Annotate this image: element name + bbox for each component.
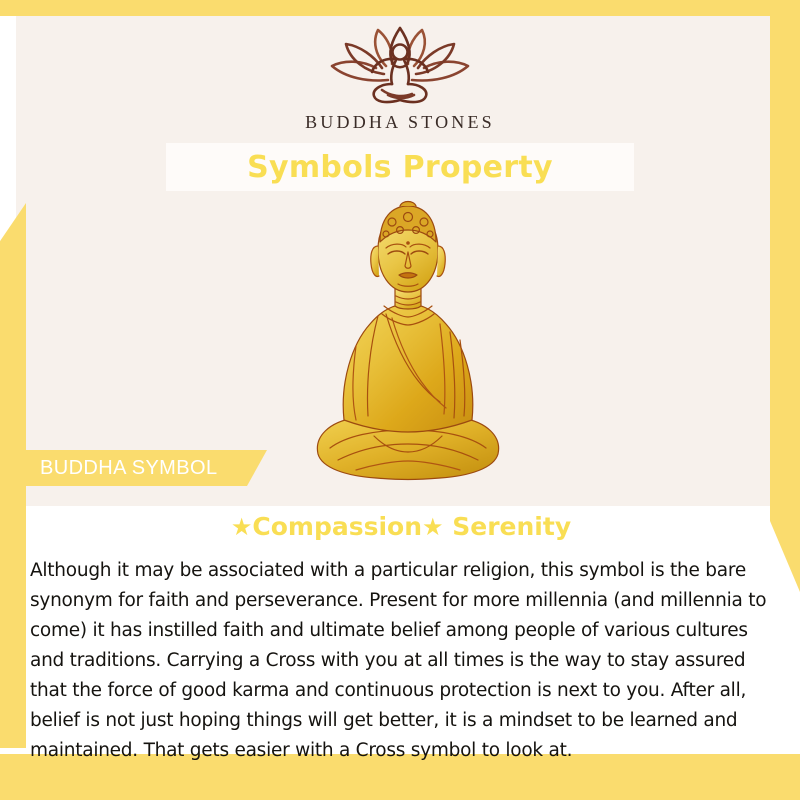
symbol-category-tag: BUDDHA SYMBOL	[17, 450, 267, 486]
symbol-category-label: BUDDHA SYMBOL	[40, 457, 217, 480]
star-icon: ★	[231, 513, 253, 541]
lotus-meditation-figure-icon	[310, 22, 490, 108]
attribute-serenity: Serenity	[452, 512, 571, 541]
description-paragraph: Although it may be associated with a par…	[30, 556, 772, 766]
title-banner: Symbols Property	[166, 143, 634, 191]
attributes-heading: ★Compassion★ Serenity	[26, 512, 776, 541]
buddha-statue-image	[300, 196, 516, 496]
brand-logo: BUDDHA STONES	[0, 22, 800, 133]
buddha-statue-icon	[300, 196, 516, 496]
attribute-compassion: Compassion	[252, 512, 422, 541]
poster-root: BUDDHA STONES Symbols Property	[0, 0, 800, 800]
frame-top-bar	[0, 0, 800, 16]
brand-name: BUDDHA STONES	[0, 112, 800, 133]
page-title: Symbols Property	[247, 150, 553, 185]
star-icon: ★	[422, 513, 444, 541]
